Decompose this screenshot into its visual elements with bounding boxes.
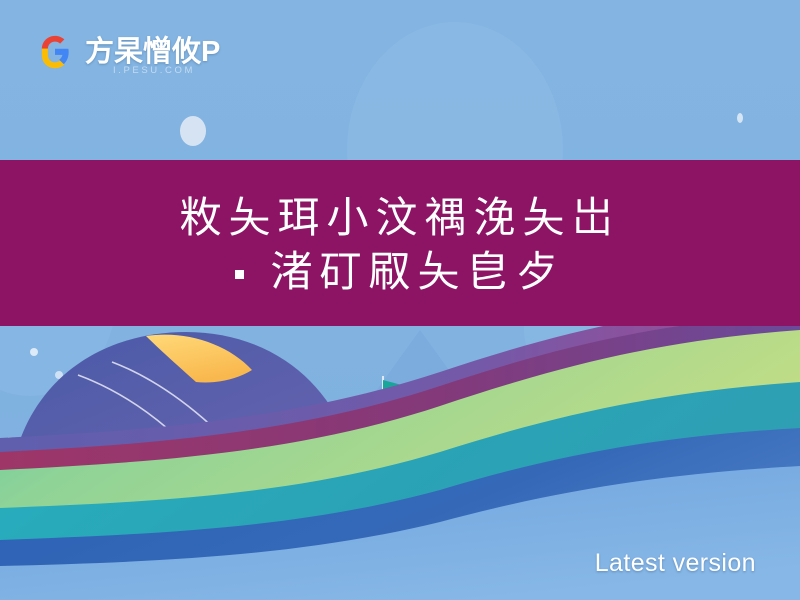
title-banner: 敉夨珥小汶禑浼夨岀 渚矴㕞夨皀歺 xyxy=(0,160,800,326)
footer-caption: Latest version xyxy=(595,549,756,578)
logo-text-group: 方杲憎攸P I.PESU.COM xyxy=(85,36,220,68)
slide-canvas: 方杲憎攸P I.PESU.COM 敉夨珥小汶禑浼夨岀 渚矴㕞夨皀歺 Latest… xyxy=(0,0,800,600)
logo-wordmark: 方杲憎攸P xyxy=(85,38,220,68)
title-line-2-text: 渚矴㕞夨皀歺 xyxy=(270,245,564,299)
google-g-icon xyxy=(34,31,76,73)
logo-domain-watermark: I.PESU.COM xyxy=(113,65,195,76)
title-line-1: 敉夨珥小汶禑浼夨岀 xyxy=(179,191,620,245)
moon-dot xyxy=(180,116,206,146)
site-logo[interactable]: 方杲憎攸P I.PESU.COM xyxy=(34,24,220,80)
square-bullet-icon xyxy=(235,270,244,279)
title-line-2: 渚矴㕞夨皀歺 xyxy=(235,245,564,299)
